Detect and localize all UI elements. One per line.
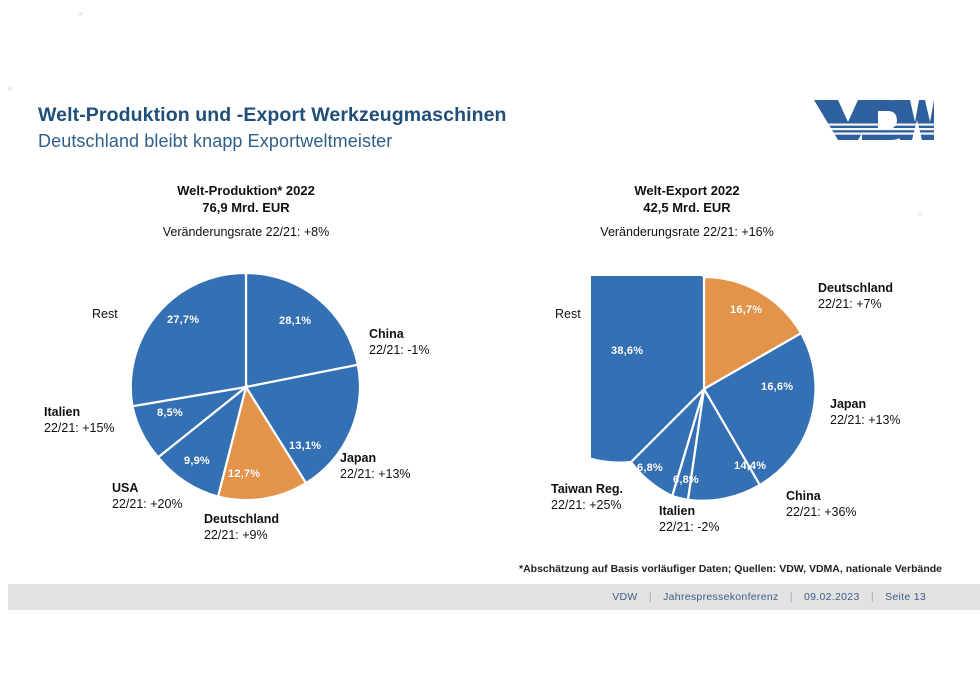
left-italien-change: 22/21: +15% bbox=[44, 420, 115, 436]
scan-artifact bbox=[918, 212, 922, 216]
right-italien-name: Italien bbox=[659, 503, 719, 519]
right-callout-deutschland: Deutschland 22/21: +7% bbox=[818, 280, 893, 312]
left-pct-japan: 13,1% bbox=[289, 440, 321, 452]
vdw-logo bbox=[812, 98, 934, 142]
scan-artifact bbox=[8, 86, 12, 91]
left-pie-chart: 28,1% 13,1% 12,7% 9,9% 8,5% 27,7% bbox=[131, 272, 361, 502]
footer-date: 09.02.2023 bbox=[804, 591, 860, 603]
footer-page: Seite 13 bbox=[885, 591, 926, 603]
footnote: *Abschätzung auf Basis vorläufiger Daten… bbox=[519, 563, 942, 575]
right-pct-taiwan: 6,8% bbox=[637, 462, 663, 474]
left-pct-china: 28,1% bbox=[279, 315, 311, 327]
right-china-name: China bbox=[786, 488, 857, 504]
right-chart-title: Welt-Export 2022 bbox=[537, 182, 837, 199]
page-title: Welt-Produktion und -Export Werkzeugmasc… bbox=[38, 104, 507, 127]
left-rest-label: Rest bbox=[92, 306, 118, 322]
right-taiwan-name: Taiwan Reg. bbox=[551, 481, 623, 497]
footer-event: Jahrespressekonferenz bbox=[663, 591, 778, 603]
left-china-name: China bbox=[369, 326, 429, 342]
left-italien-name: Italien bbox=[44, 404, 115, 420]
right-china-change: 22/21: +36% bbox=[786, 504, 857, 520]
right-callout-china: China 22/21: +36% bbox=[786, 488, 857, 520]
right-chart-header: Welt-Export 2022 42,5 Mrd. EUR Veränderu… bbox=[537, 182, 837, 239]
footer-separator-3: | bbox=[871, 591, 874, 603]
left-deutschland-change: 22/21: +9% bbox=[204, 527, 279, 543]
right-rest-label: Rest bbox=[555, 306, 581, 322]
scan-artifact bbox=[78, 12, 83, 16]
left-pct-italien: 8,5% bbox=[157, 407, 183, 419]
left-deutschland-name: Deutschland bbox=[204, 511, 279, 527]
left-callout-rest: Rest bbox=[92, 306, 118, 322]
left-usa-change: 22/21: +20% bbox=[112, 496, 183, 512]
right-pct-italien: 6,8% bbox=[673, 474, 699, 486]
right-chart-note: Veränderungsrate 22/21: +16% bbox=[537, 225, 837, 239]
left-callout-italien: Italien 22/21: +15% bbox=[44, 404, 115, 436]
right-pct-china: 14,4% bbox=[734, 460, 766, 472]
right-pct-japan: 16,6% bbox=[761, 381, 793, 393]
right-callout-italien: Italien 22/21: -2% bbox=[659, 503, 719, 535]
right-italien-change: 22/21: -2% bbox=[659, 519, 719, 535]
right-deutschland-change: 22/21: +7% bbox=[818, 296, 893, 312]
left-pct-rest: 27,7% bbox=[167, 314, 199, 326]
right-callout-taiwan: Taiwan Reg. 22/21: +25% bbox=[551, 481, 623, 513]
right-deutschland-name: Deutschland bbox=[818, 280, 893, 296]
left-callout-deutschland: Deutschland 22/21: +9% bbox=[204, 511, 279, 543]
right-callout-japan: Japan 22/21: +13% bbox=[830, 396, 901, 428]
right-japan-change: 22/21: +13% bbox=[830, 412, 901, 428]
footer-separator-1: | bbox=[649, 591, 652, 603]
left-japan-change: 22/21: +13% bbox=[340, 466, 411, 482]
left-pct-usa: 9,9% bbox=[184, 455, 210, 467]
left-japan-name: Japan bbox=[340, 450, 411, 466]
left-callout-usa: USA 22/21: +20% bbox=[112, 480, 183, 512]
right-taiwan-change: 22/21: +25% bbox=[551, 497, 623, 513]
right-japan-name: Japan bbox=[830, 396, 901, 412]
left-chart-title: Welt-Produktion* 2022 bbox=[96, 182, 396, 199]
left-chart-subtitle: 76,9 Mrd. EUR bbox=[96, 199, 396, 216]
footer-text: VDW | Jahrespressekonferenz | 09.02.2023… bbox=[608, 591, 930, 603]
left-callout-japan: Japan 22/21: +13% bbox=[340, 450, 411, 482]
slide: Welt-Produktion und -Export Werkzeugmasc… bbox=[0, 0, 980, 696]
right-pct-rest: 38,6% bbox=[611, 345, 643, 357]
right-chart-subtitle: 42,5 Mrd. EUR bbox=[537, 199, 837, 216]
footer-org: VDW bbox=[612, 591, 637, 603]
footer-separator-2: | bbox=[790, 591, 793, 603]
left-chart-header: Welt-Produktion* 2022 76,9 Mrd. EUR Verä… bbox=[96, 182, 396, 239]
left-chart-note: Veränderungsrate 22/21: +8% bbox=[96, 225, 396, 239]
left-pct-deutschland: 12,7% bbox=[228, 468, 260, 480]
left-china-change: 22/21: -1% bbox=[369, 342, 429, 358]
right-callout-rest: Rest bbox=[555, 306, 581, 322]
page-subtitle: Deutschland bleibt knapp Exportweltmeist… bbox=[38, 131, 392, 152]
right-pct-deutschland: 16,7% bbox=[730, 304, 762, 316]
left-callout-china: China 22/21: -1% bbox=[369, 326, 429, 358]
right-pie-chart: 16,7% 16,6% 14,4% 6,8% 6,8% 38,6% bbox=[591, 276, 817, 502]
left-usa-name: USA bbox=[112, 480, 183, 496]
